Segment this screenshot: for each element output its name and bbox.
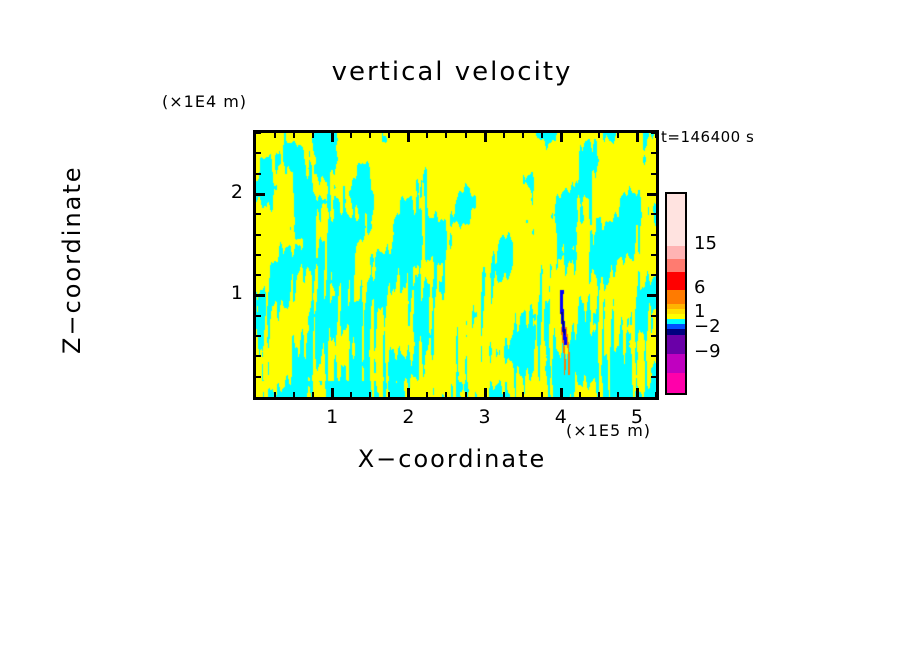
y-tick-right <box>651 234 656 236</box>
x-axis-label: X−coordinate <box>0 445 904 473</box>
x-tick <box>579 392 581 397</box>
x-tick <box>636 388 639 397</box>
y-tick <box>256 132 261 134</box>
x-tick-top <box>445 133 447 138</box>
y-tick-label: 1 <box>203 282 243 304</box>
x-tick-label: 2 <box>388 406 428 428</box>
x-tick <box>407 388 410 397</box>
x-tick-top <box>598 133 600 138</box>
y-tick-right <box>651 173 656 175</box>
plot-canvas-root: vertical velocity (×1E4 m) (×1E5 m) X−co… <box>0 0 904 654</box>
x-tick-label: 5 <box>617 406 657 428</box>
x-tick <box>541 392 543 397</box>
x-tick-top <box>579 133 581 138</box>
y-tick <box>256 335 261 337</box>
y-tick-right <box>651 335 656 337</box>
y-tick <box>256 355 261 357</box>
colorbar-band <box>667 290 685 304</box>
x-tick <box>522 392 524 397</box>
x-tick <box>426 392 428 397</box>
x-tick <box>560 388 563 397</box>
colorbar-band <box>667 259 685 272</box>
y-tick <box>256 376 261 378</box>
y-tick-right <box>651 355 656 357</box>
colorbar-tick-label: −2 <box>694 316 721 337</box>
y-axis-unit-caption: (×1E4 m) <box>162 92 247 111</box>
x-tick-top <box>369 133 371 138</box>
x-tick <box>655 392 657 397</box>
x-tick-top <box>503 133 505 138</box>
x-tick <box>503 392 505 397</box>
x-tick <box>331 388 334 397</box>
y-tick-right <box>651 315 656 317</box>
y-tick-right <box>651 376 656 378</box>
colorbar-band <box>667 272 685 290</box>
x-tick-label: 4 <box>541 406 581 428</box>
x-tick <box>484 388 487 397</box>
y-tick-right <box>651 152 656 154</box>
x-tick-top <box>331 133 334 142</box>
colorbar-band <box>667 194 685 246</box>
x-tick-top <box>617 133 619 138</box>
x-tick <box>293 392 295 397</box>
x-tick <box>274 392 276 397</box>
x-tick-top <box>293 133 295 138</box>
x-tick <box>465 392 467 397</box>
y-tick <box>256 274 261 276</box>
y-tick-right <box>651 254 656 256</box>
x-tick <box>388 392 390 397</box>
x-tick-top <box>274 133 276 138</box>
x-tick-top <box>522 133 524 138</box>
x-tick <box>617 392 619 397</box>
colorbar-tick-label: 15 <box>694 233 717 254</box>
time-annotation: t=146400 s <box>661 128 754 146</box>
x-tick-top <box>560 133 563 142</box>
x-tick-top <box>350 133 352 138</box>
y-tick <box>256 234 261 236</box>
x-tick-top <box>312 133 314 138</box>
x-tick <box>312 392 314 397</box>
y-tick <box>256 254 261 256</box>
y-tick <box>256 315 261 317</box>
colorbar-band <box>667 335 685 354</box>
x-tick-top <box>484 133 487 142</box>
chart-title: vertical velocity <box>0 57 904 87</box>
x-tick <box>369 392 371 397</box>
y-tick-right <box>651 132 656 134</box>
x-tick-top <box>426 133 428 138</box>
y-tick-right <box>647 193 656 196</box>
x-tick <box>445 392 447 397</box>
contour-field <box>256 133 656 397</box>
x-tick-top <box>465 133 467 138</box>
x-tick-top <box>407 133 410 142</box>
y-tick-right <box>647 294 656 297</box>
colorbar-band <box>667 246 685 259</box>
y-tick <box>256 193 265 196</box>
colorbar <box>665 192 687 395</box>
x-tick-top <box>388 133 390 138</box>
x-tick <box>350 392 352 397</box>
colorbar-band <box>667 354 685 373</box>
colorbar-tick-label: −9 <box>694 341 721 362</box>
y-tick-label: 2 <box>203 181 243 203</box>
colorbar-band <box>667 373 685 393</box>
y-tick <box>256 152 261 154</box>
x-tick-top <box>636 133 639 142</box>
x-tick-label: 3 <box>465 406 505 428</box>
y-tick <box>256 173 261 175</box>
x-tick <box>598 392 600 397</box>
y-tick-right <box>651 213 656 215</box>
x-tick-label: 1 <box>312 406 352 428</box>
y-axis-label: Z−coordinate <box>58 174 86 354</box>
x-tick-top <box>541 133 543 138</box>
colorbar-tick-label: 6 <box>694 277 705 298</box>
y-tick <box>256 294 265 297</box>
plot-frame <box>253 130 659 400</box>
y-tick <box>256 213 261 215</box>
y-tick-right <box>651 274 656 276</box>
